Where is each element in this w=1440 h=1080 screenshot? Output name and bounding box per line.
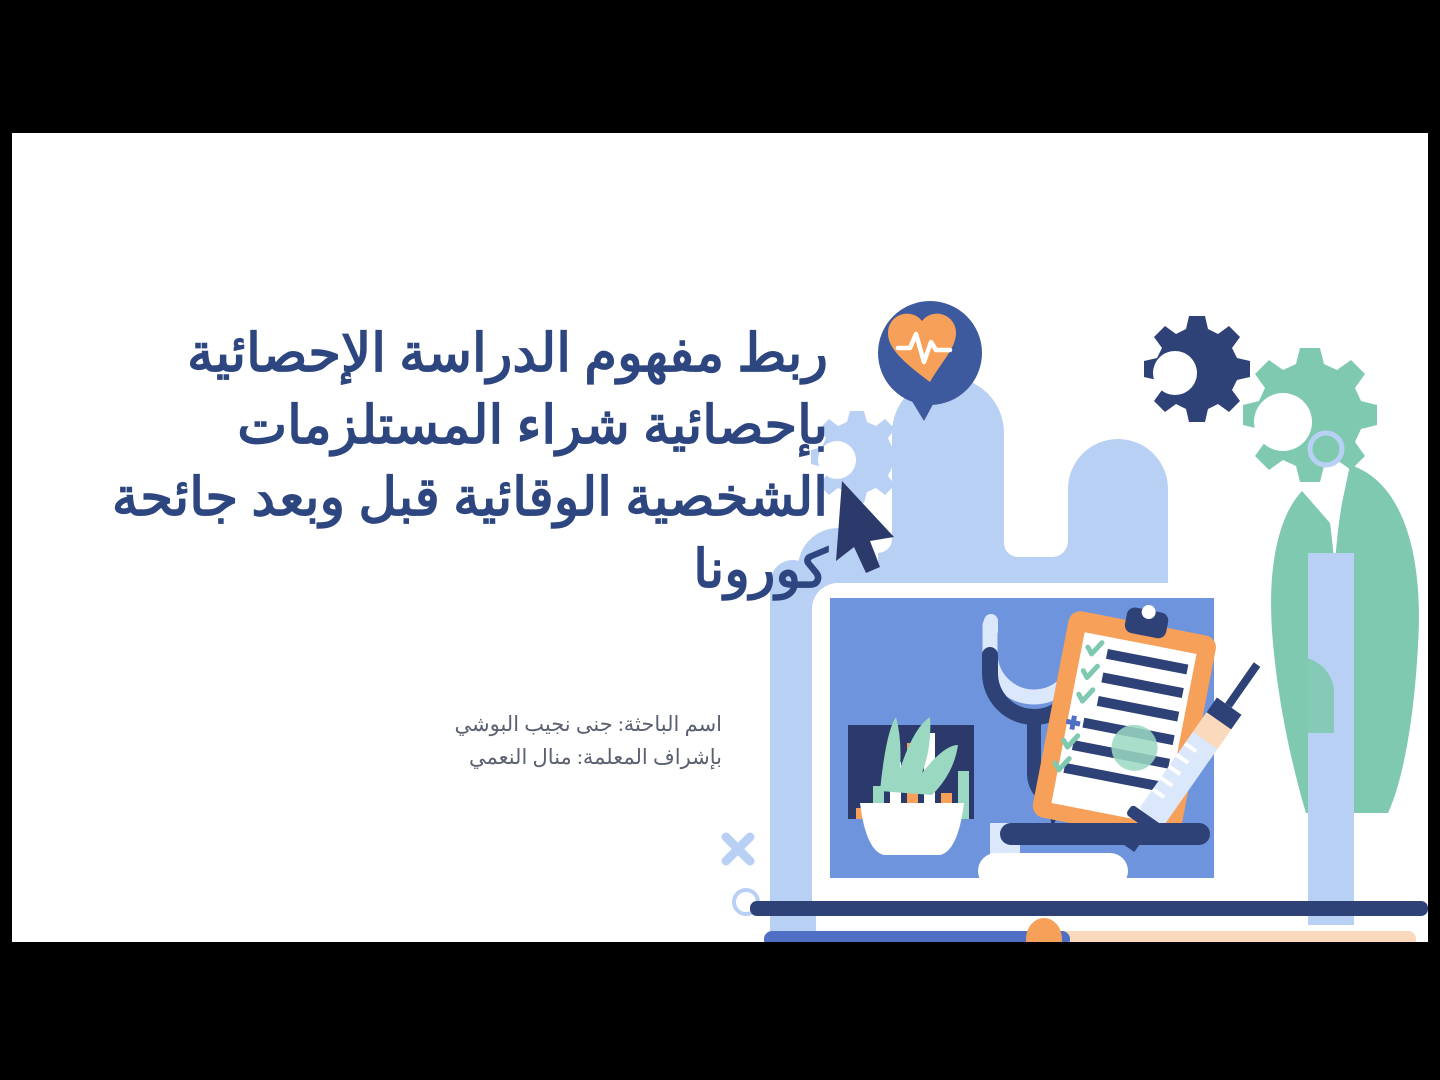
- gear-navy-icon: [1144, 316, 1250, 422]
- slide-subtitle-block: اسم الباحثة: جنى نجيب البوشي بإشراف المع…: [362, 708, 722, 773]
- x-mark-icon: [726, 837, 750, 861]
- page-title: ربط مفهوم الدراسة الإحصائية بإحصائية شرا…: [108, 318, 828, 606]
- panel-right: [1308, 553, 1354, 925]
- supervisor-name: بإشراف المعلمة: منال النعمي: [362, 741, 722, 774]
- slide-title-block: ربط مفهوم الدراسة الإحصائية بإحصائية شرا…: [108, 318, 828, 606]
- panel-left: [770, 583, 816, 935]
- gear-green-icon: [1243, 348, 1377, 482]
- researcher-name: اسم الباحثة: جنى نجيب البوشي: [362, 708, 722, 741]
- screenshot-stage: ربط مفهوم الدراسة الإحصائية بإحصائية شرا…: [0, 0, 1440, 1080]
- desk-line: [750, 901, 1428, 916]
- presentation-slide: ربط مفهوم الدراسة الإحصائية بإحصائية شرا…: [12, 133, 1428, 942]
- desk-bar: [1000, 823, 1210, 845]
- progress-fill: [764, 931, 1070, 942]
- monitor-base: [978, 853, 1128, 889]
